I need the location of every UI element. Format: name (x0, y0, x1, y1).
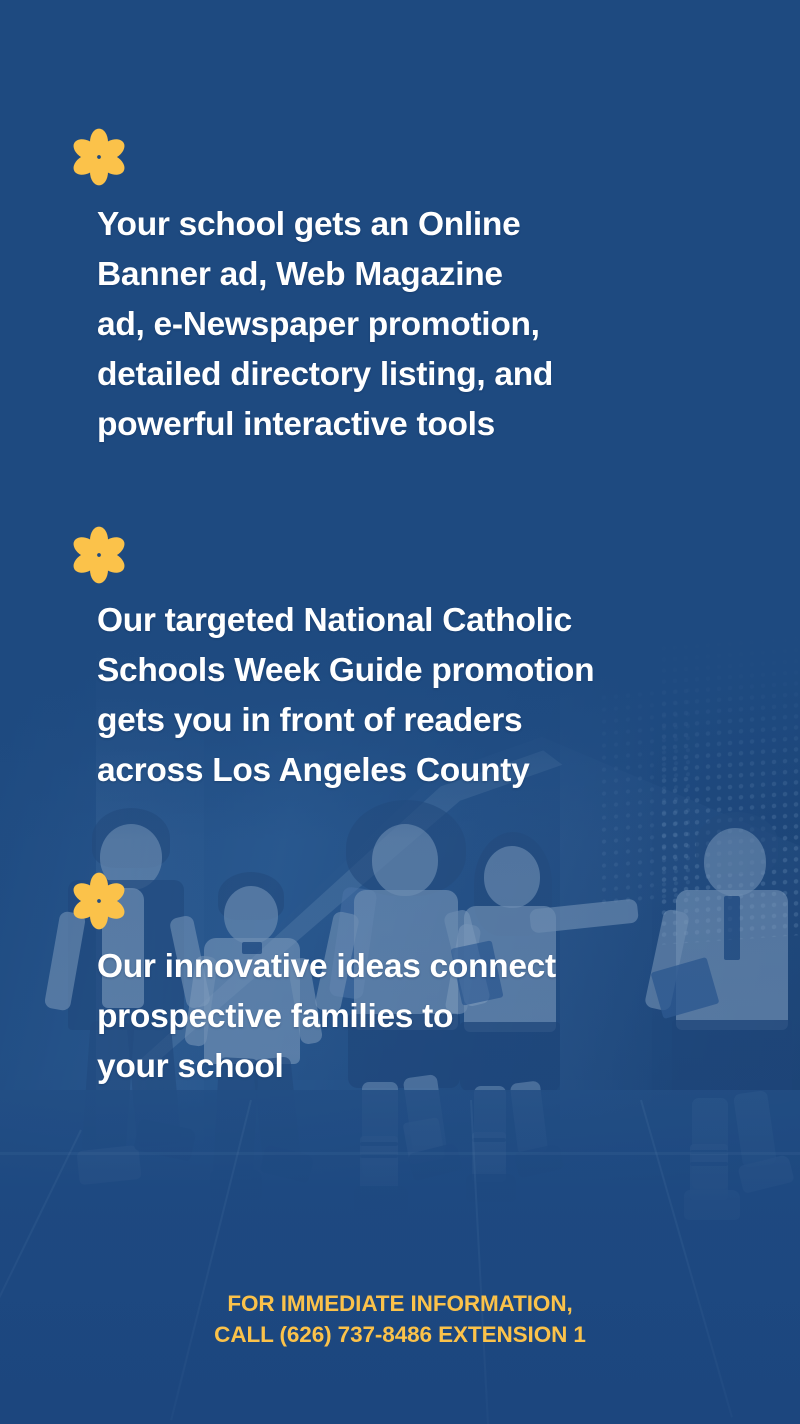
bullet-text-1: Your school gets an Online Banner ad, We… (97, 200, 747, 450)
flower-icon (70, 872, 128, 930)
promo-poster: Your school gets an Online Banner ad, We… (0, 0, 800, 1424)
flower-icon (70, 526, 128, 584)
footer-call-to-action: FOR IMMEDIATE INFORMATION, CALL (626) 73… (0, 1288, 800, 1350)
bullet-text-2: Our targeted National Catholic Schools W… (97, 596, 747, 796)
poster-content: Your school gets an Online Banner ad, We… (0, 0, 800, 1424)
flower-icon (70, 128, 128, 186)
bullet-text-3: Our innovative ideas connect prospective… (97, 942, 747, 1092)
